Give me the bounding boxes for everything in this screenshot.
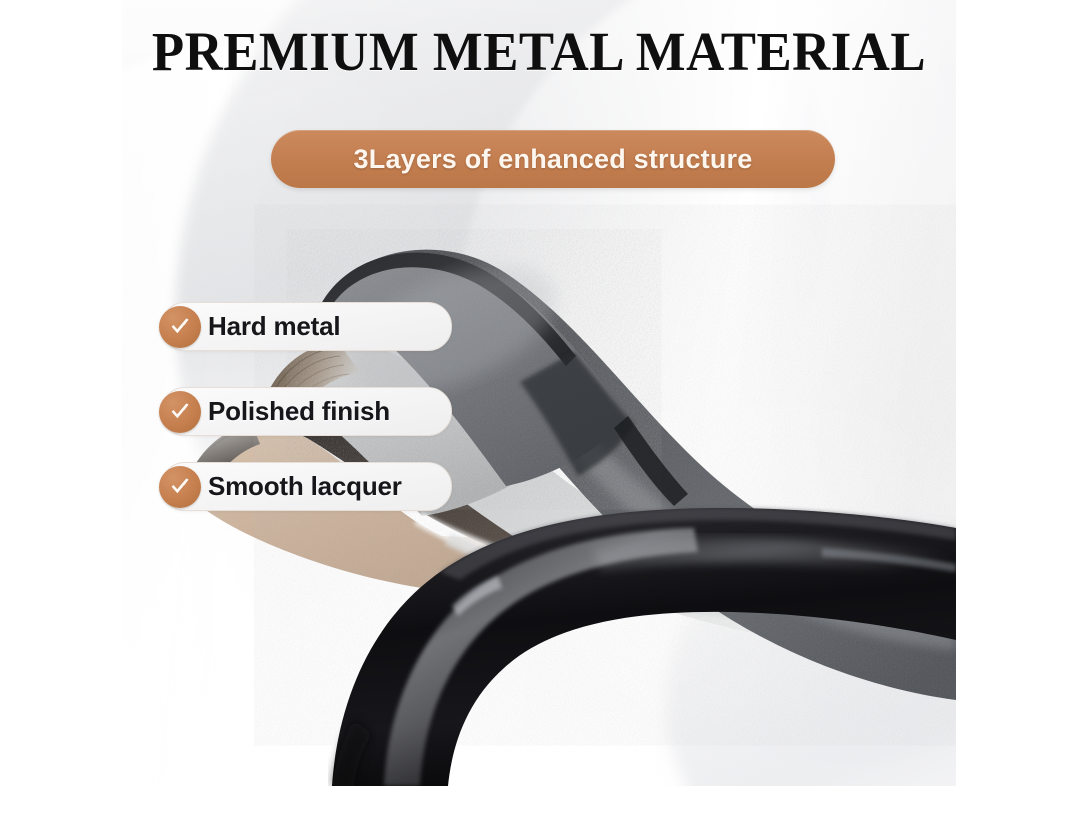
image-panel: PREMIUM METAL MATERIAL 3Layers of enhanc…: [122, 0, 956, 786]
structure-banner-label: 3Layers of enhanced structure: [354, 144, 753, 175]
feature-item-smooth-lacquer: Smooth lacquer: [161, 462, 452, 511]
page-title: PREMIUM METAL MATERIAL: [139, 24, 940, 79]
feature-label: Polished finish: [208, 396, 390, 427]
feature-label: Smooth lacquer: [208, 471, 402, 502]
check-circle-icon: [159, 391, 201, 433]
feature-item-hard-metal: Hard metal: [161, 302, 452, 351]
structure-banner: 3Layers of enhanced structure: [271, 130, 835, 188]
product-infographic: PREMIUM METAL MATERIAL 3Layers of enhanc…: [0, 0, 1080, 824]
check-circle-icon: [159, 306, 201, 348]
feature-label: Hard metal: [208, 311, 340, 342]
check-circle-icon: [159, 466, 201, 508]
feature-item-polished-finish: Polished finish: [161, 387, 452, 436]
